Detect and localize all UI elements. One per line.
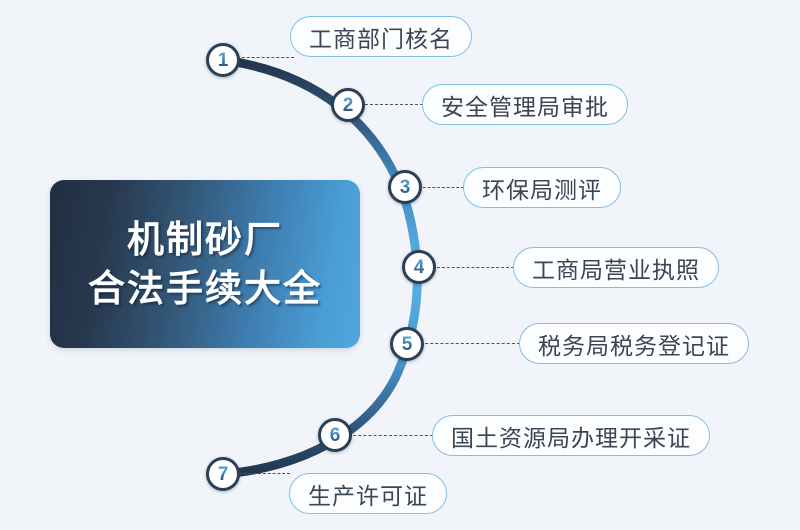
step-label-3[interactable]: 环保局测评 <box>463 167 621 208</box>
step-number-7: 7 <box>218 465 229 484</box>
connector-7 <box>234 473 290 474</box>
connector-3 <box>418 187 464 188</box>
step-label-1[interactable]: 工商部门核名 <box>290 16 472 57</box>
connector-1 <box>232 57 294 58</box>
step-label-7[interactable]: 生产许可证 <box>289 473 447 514</box>
step-marker-2[interactable]: 2 <box>331 88 365 122</box>
connector-4 <box>432 267 514 268</box>
title-card: 机制砂厂 合法手续大全 <box>50 180 360 348</box>
step-marker-3[interactable]: 3 <box>388 170 422 204</box>
step-number-4: 4 <box>414 258 425 277</box>
title-line-1: 机制砂厂 <box>127 216 283 263</box>
step-number-2: 2 <box>343 96 354 115</box>
step-marker-7[interactable]: 7 <box>206 457 240 491</box>
step-marker-1[interactable]: 1 <box>206 43 240 77</box>
step-label-4[interactable]: 工商局营业执照 <box>513 247 719 288</box>
step-number-6: 6 <box>330 426 341 445</box>
step-number-3: 3 <box>400 178 411 197</box>
step-label-6[interactable]: 国土资源局办理开采证 <box>432 415 710 456</box>
infographic-canvas: 机制砂厂 合法手续大全 1 2 3 4 5 6 7 工商部门核名 安全管理局审批… <box>0 0 800 530</box>
title-line-2: 合法手续大全 <box>88 265 322 312</box>
step-marker-6[interactable]: 6 <box>318 418 352 452</box>
step-label-5[interactable]: 税务局税务登记证 <box>519 323 749 364</box>
connector-2 <box>360 104 423 105</box>
step-number-1: 1 <box>218 51 229 70</box>
connector-6 <box>348 435 433 436</box>
step-marker-4[interactable]: 4 <box>402 250 436 284</box>
step-marker-5[interactable]: 5 <box>390 327 424 361</box>
step-label-2[interactable]: 安全管理局审批 <box>422 84 628 125</box>
connector-5 <box>420 343 520 344</box>
step-number-5: 5 <box>402 335 413 354</box>
